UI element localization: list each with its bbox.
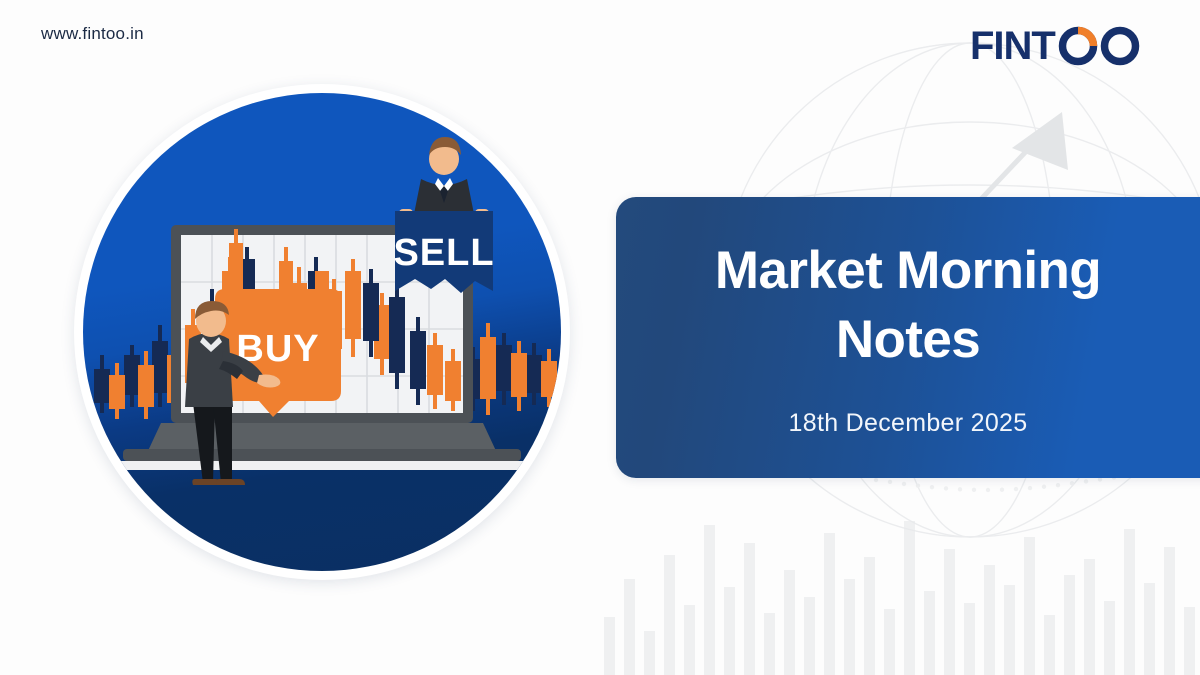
title-line-1: Market Morning <box>644 237 1172 306</box>
publication-date: 18th December 2025 <box>644 409 1172 438</box>
title-panel: Market Morning Notes 18th December 2025 <box>616 197 1200 478</box>
site-url[interactable]: www.fintoo.in <box>41 24 144 44</box>
page-title: Market Morning Notes <box>644 237 1172 375</box>
sell-sign-figure: SELL <box>393 137 494 293</box>
illustration-circle: SELL BUY <box>74 84 570 580</box>
market-morning-notes-banner: www.fintoo.in FINT <box>0 0 1200 675</box>
illustration-canvas: SELL BUY <box>83 93 561 571</box>
fintoo-logo[interactable]: FINT <box>970 24 1156 70</box>
sell-label: SELL <box>393 232 494 274</box>
svg-text:FINT: FINT <box>970 24 1055 68</box>
title-line-2: Notes <box>644 306 1172 375</box>
fintoo-logo-icon: FINT <box>970 24 1156 70</box>
